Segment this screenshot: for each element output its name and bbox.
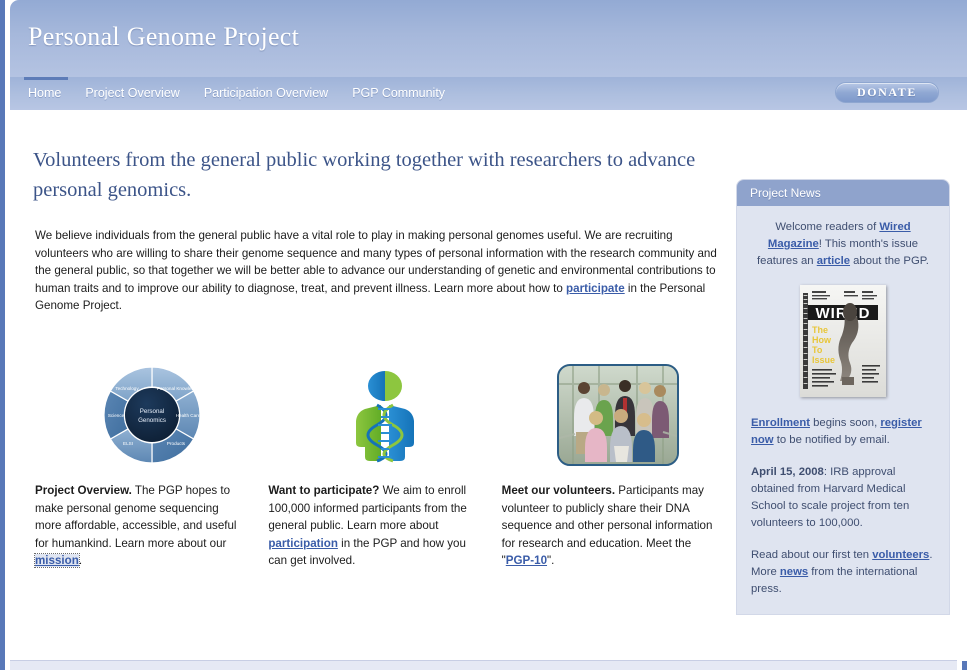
news-text-1: Welcome readers of [775, 221, 879, 233]
feature-column-volunteers: Meet our volunteers. Participants may vo… [502, 360, 735, 570]
donate-button[interactable]: DONATE [835, 82, 939, 103]
cover-line-1: The [812, 325, 828, 335]
news-item-wired: Welcome readers of Wired Magazine! This … [751, 219, 935, 270]
volunteers-group-photo[interactable] [557, 364, 679, 466]
project-news-panel: Project News Welcome readers of Wired Ma… [737, 180, 949, 614]
donut-label-science: Science [107, 413, 124, 418]
donut-label-health-care: Health Care [175, 413, 200, 418]
mission-link[interactable]: mission [35, 554, 79, 567]
site-header: Personal Genome Project [10, 0, 967, 77]
column-caption: Meet our volunteers. Participants may vo… [502, 482, 714, 570]
column-caption: Want to participate? We aim to enroll 10… [268, 482, 480, 570]
news-text-2: to be notified by email. [774, 434, 890, 446]
caption-lead: Project Overview. [35, 484, 132, 497]
donut-label-personal-knowledge: Personal Knowledge [157, 386, 200, 391]
figure-container [268, 360, 501, 470]
project-news-body: Welcome readers of Wired Magazine! This … [737, 206, 949, 614]
news-text-1: begins soon, [810, 417, 880, 429]
dna-person-icon[interactable] [347, 365, 423, 465]
caption-text-2: ". [547, 554, 554, 567]
participate-link[interactable]: participate [566, 282, 625, 295]
caption-text-2: . [79, 554, 82, 567]
cover-line-2: How [812, 335, 832, 345]
donut-label-technology: Technology [115, 386, 139, 391]
nav-item-home[interactable]: Home [28, 77, 73, 110]
project-news-header: Project News [737, 180, 949, 206]
cover-line-4: Issue [812, 355, 835, 365]
magazine-cover-container: WIRED The How To Issue [751, 285, 935, 397]
enrollment-link[interactable]: Enrollment [751, 417, 810, 429]
news-link[interactable]: news [780, 566, 808, 578]
main-navigation: Home Project Overview Participation Over… [10, 77, 967, 110]
site-title: Personal Genome Project [28, 22, 299, 52]
feature-columns: Personal Knowledge Health Care Products … [35, 360, 735, 570]
news-item-first-ten-volunteers: Read about our first ten volunteers. Mor… [751, 547, 935, 598]
caption-lead: Want to participate? [268, 484, 379, 497]
news-text-3: about the PGP. [850, 255, 929, 267]
main-column: Volunteers from the general public worki… [30, 110, 730, 315]
figure-container: Personal Knowledge Health Care Products … [35, 360, 268, 470]
news-item-enrollment: Enrollment begins soon, register now to … [751, 415, 935, 449]
caption-lead: Meet our volunteers. [502, 484, 615, 497]
page-frame: Personal Genome Project Home Project Ove… [0, 0, 967, 670]
figure-container [502, 360, 735, 470]
bottom-strip [10, 660, 957, 670]
volunteers-link[interactable]: volunteers [872, 549, 929, 561]
nav-item-list: Home Project Overview Participation Over… [28, 77, 469, 110]
news-item-irb-approval: April 15, 2008: IRB approval obtained fr… [751, 464, 935, 532]
feature-column-project-overview: Personal Knowledge Health Care Products … [35, 360, 268, 570]
article-link[interactable]: article [817, 255, 850, 267]
intro-paragraph: We believe individuals from the general … [35, 227, 717, 315]
nav-item-pgp-community[interactable]: PGP Community [352, 77, 457, 110]
wired-masthead-text: WIRED [816, 305, 871, 322]
content-area: Volunteers from the general public worki… [10, 110, 967, 661]
cover-line-3: To [812, 345, 823, 355]
pgp-10-link[interactable]: PGP-10 [506, 554, 547, 567]
donut-center-line2: Genomics [138, 417, 166, 424]
feature-column-participate: Want to participate? We aim to enroll 10… [268, 360, 501, 570]
nav-item-participation-overview[interactable]: Participation Overview [204, 77, 340, 110]
page-headline: Volunteers from the general public worki… [33, 145, 703, 205]
news-date: April 15, 2008 [751, 466, 824, 478]
personal-genomics-donut-icon[interactable]: Personal Knowledge Health Care Products … [100, 363, 204, 467]
donut-label-products: Products [167, 441, 186, 446]
column-caption: Project Overview. The PGP hopes to make … [35, 482, 247, 570]
news-text-1: Read about our first ten [751, 549, 872, 561]
donut-center-line1: Personal [139, 408, 163, 415]
nav-item-project-overview[interactable]: Project Overview [85, 77, 191, 110]
participation-link[interactable]: participation [268, 537, 338, 550]
wired-magazine-cover-image[interactable]: WIRED The How To Issue [800, 285, 886, 397]
donut-label-elsi: ELSI [123, 441, 133, 446]
